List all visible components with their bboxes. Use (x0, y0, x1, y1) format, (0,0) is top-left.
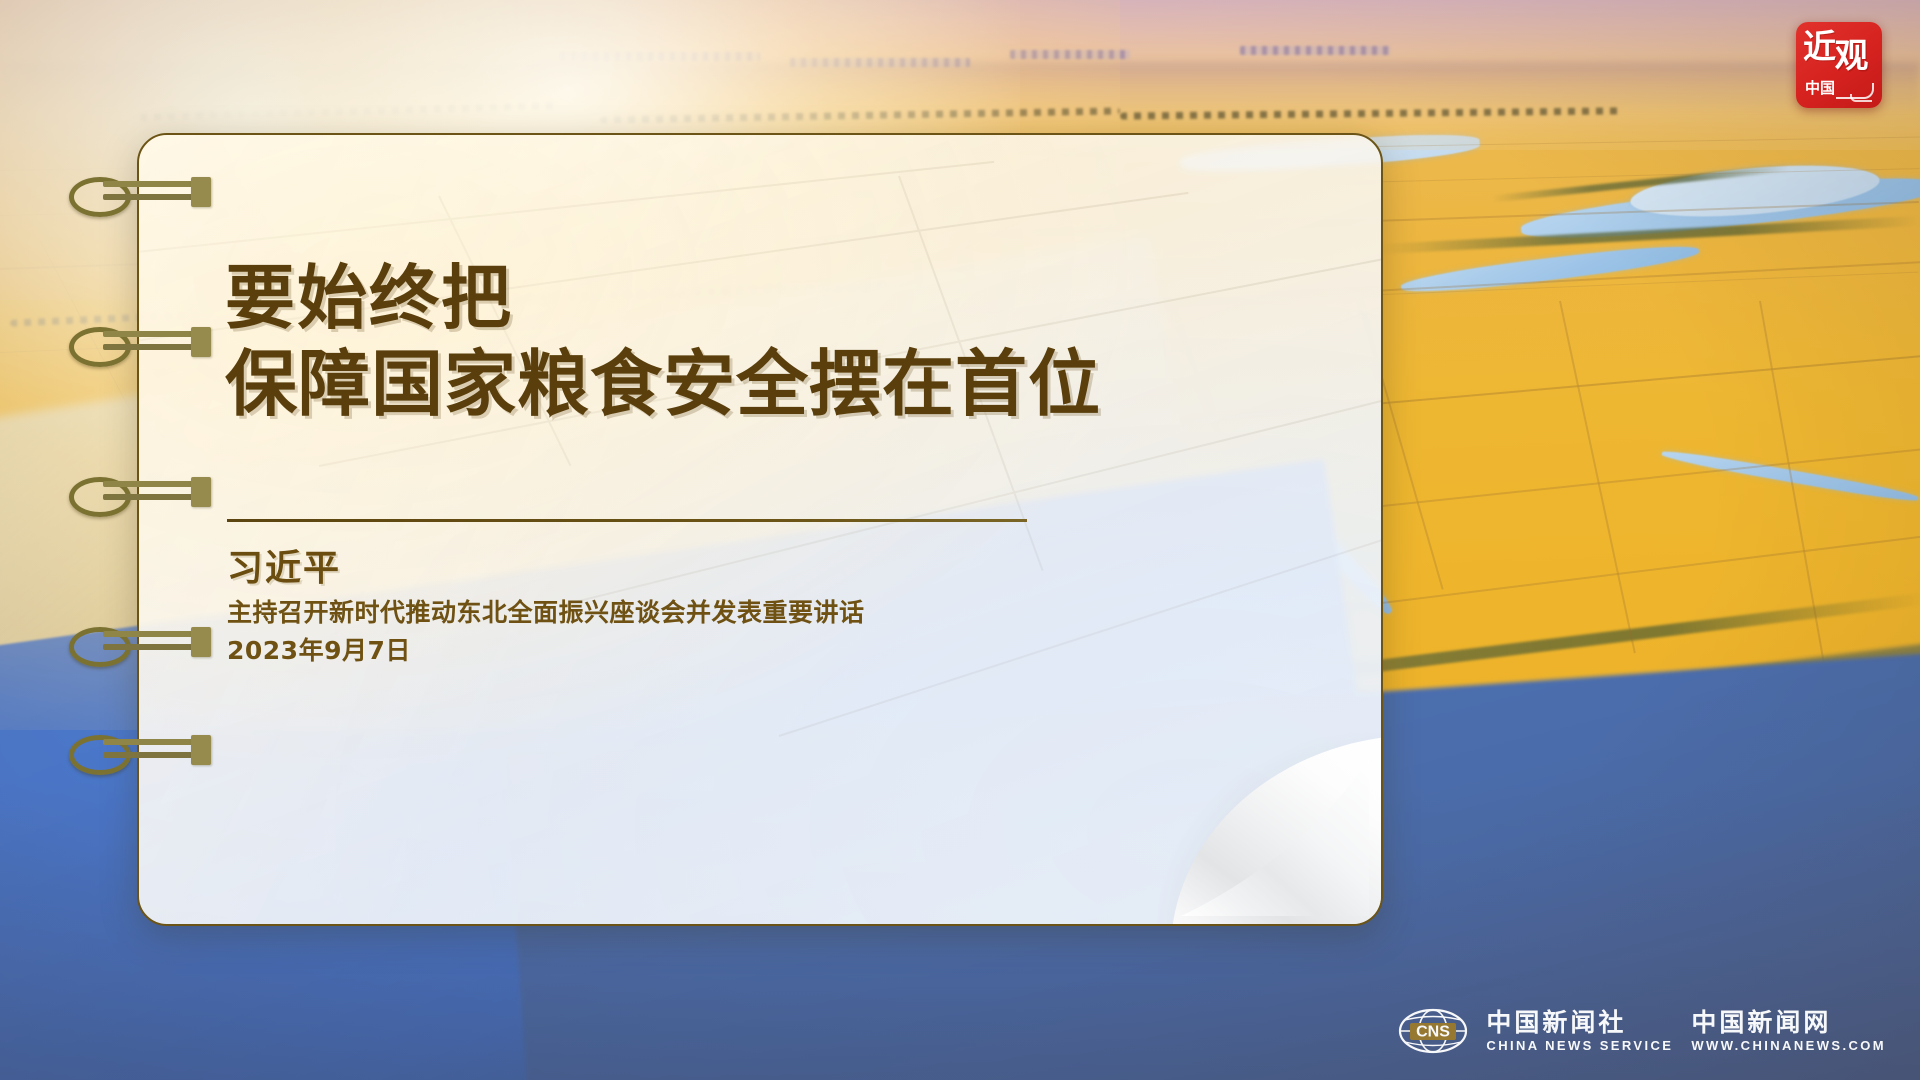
spiral-ring-tip (191, 327, 211, 357)
date-text: 2023年9月7日 (227, 635, 411, 667)
spiral-ring-bar-lower (103, 644, 199, 650)
spiral-ring (69, 325, 209, 359)
headline: 要始终把 保障国家粮食安全摆在首位 (225, 255, 1101, 427)
headline-line-2: 保障国家粮食安全摆在首位 (225, 341, 1101, 427)
brand-logo-swoosh2-icon (1850, 94, 1872, 102)
quote-card-wrapper: 要始终把 保障国家粮食安全摆在首位 习近平 主持召开新时代推动东北全面振兴座谈会… (137, 133, 1383, 926)
quote-card: 要始终把 保障国家粮食安全摆在首位 习近平 主持召开新时代推动东北全面振兴座谈会… (137, 133, 1383, 926)
spiral-ring-bar (103, 331, 199, 337)
brand-logo-subtitle: 中国 (1805, 81, 1835, 96)
spiral-ring-bar (103, 481, 199, 487)
spiral-ring-bar (103, 181, 199, 187)
watermark-site: 中国新闻网 WWW.CHINANEWS.COM (1691, 1010, 1886, 1053)
card-content: 要始终把 保障国家粮食安全摆在首位 习近平 主持召开新时代推动东北全面振兴座谈会… (225, 135, 1261, 924)
watermark-agency-cn: 中国新闻社 (1486, 1010, 1673, 1036)
spiral-ring-tip (191, 177, 211, 207)
spiral-ring (69, 733, 209, 767)
author-name: 习近平 (227, 547, 341, 591)
watermark-agency: 中国新闻社 CHINA NEWS SERVICE (1486, 1010, 1673, 1053)
spiral-ring (69, 175, 209, 209)
poster-canvas: 近观 中国 要始终把 保障国家粮食安全摆在首位 (0, 0, 1920, 1080)
spiral-ring-bar (103, 631, 199, 637)
spiral-binding (69, 133, 209, 926)
watermark-agency-en: CHINA NEWS SERVICE (1486, 1039, 1673, 1053)
brand-logo-title: 近观 (1803, 30, 1867, 63)
headline-line-1: 要始终把 (225, 255, 1101, 341)
occasion-text: 主持召开新时代推动东北全面振兴座谈会并发表重要讲话 (227, 597, 865, 629)
spiral-ring-bar-lower (103, 494, 199, 500)
spiral-ring-bar-lower (103, 344, 199, 350)
brand-logo[interactable]: 近观 中国 (1796, 22, 1882, 108)
spiral-ring-bar (103, 739, 199, 745)
watermark-site-en: WWW.CHINANEWS.COM (1691, 1039, 1886, 1053)
spiral-ring-tip (191, 477, 211, 507)
watermark-site-cn: 中国新闻网 (1691, 1010, 1886, 1036)
spiral-ring-tip (191, 627, 211, 657)
cns-globe-icon: CNS (1398, 1008, 1468, 1054)
spiral-ring-bar-lower (103, 194, 199, 200)
watermark: CNS 中国新闻社 CHINA NEWS SERVICE 中国新闻网 WWW.C… (1398, 1004, 1886, 1058)
spiral-ring-bar-lower (103, 752, 199, 758)
svg-text:CNS: CNS (1417, 1024, 1451, 1041)
spiral-ring-tip (191, 735, 211, 765)
spiral-ring (69, 625, 209, 659)
divider (227, 519, 1027, 522)
spiral-ring (69, 475, 209, 509)
